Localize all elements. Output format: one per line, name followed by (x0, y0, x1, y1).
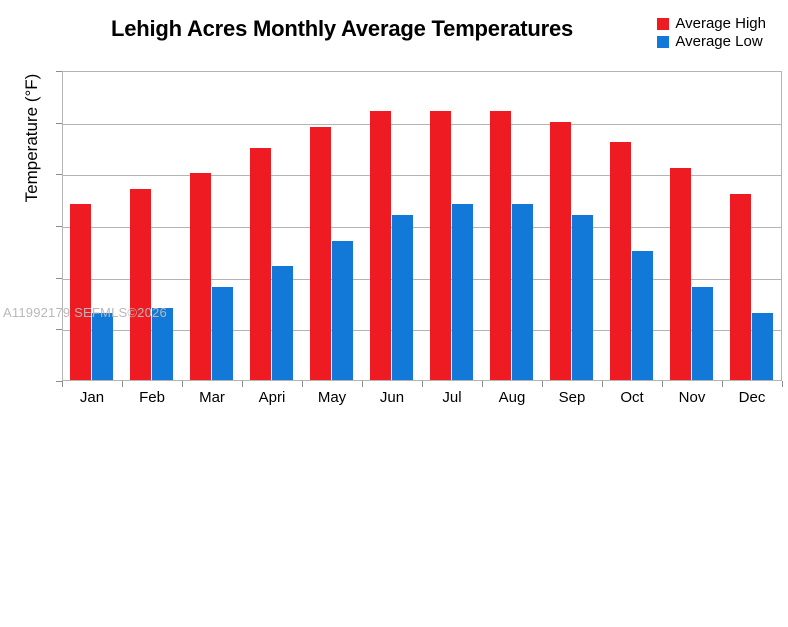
x-axis-tick-label: Nov (679, 389, 706, 406)
x-axis-labels: JanFebMarApriMayJunJulAugSepOctNovDec (62, 389, 782, 411)
y-axis-tick-mark (56, 174, 62, 175)
legend-item-average-high: Average High (657, 16, 766, 31)
legend-label-average-low: Average Low (675, 34, 762, 49)
bar-average-low[interactable] (452, 204, 473, 380)
bar-average-high[interactable] (190, 173, 211, 380)
plot-area (62, 71, 782, 381)
bar-group (183, 72, 243, 380)
bar-average-high[interactable] (610, 142, 631, 380)
x-axis-tick-mark (182, 381, 183, 387)
bar-group (603, 72, 663, 380)
y-axis-tick-mark (56, 71, 62, 72)
bar-group (363, 72, 423, 380)
temperature-bar-chart: Lehigh Acres Monthly Average Temperature… (0, 0, 788, 627)
bar-average-low[interactable] (692, 287, 713, 380)
bars-layer (63, 72, 781, 380)
chart-legend: Average High Average Low (657, 16, 766, 49)
x-axis-tick-label: Jan (80, 389, 104, 406)
x-axis-tick-label: Apri (259, 389, 286, 406)
x-axis-tick-mark (542, 381, 543, 387)
bar-group (303, 72, 363, 380)
x-axis-tick-label: Jul (442, 389, 461, 406)
legend-label-average-high: Average High (675, 16, 766, 31)
bar-group (543, 72, 603, 380)
x-axis-tick-mark (482, 381, 483, 387)
bar-average-low[interactable] (332, 241, 353, 381)
x-axis-tick-label: Oct (620, 389, 643, 406)
bar-average-low[interactable] (212, 287, 233, 380)
bar-average-low[interactable] (392, 215, 413, 380)
x-axis-tick-mark (782, 381, 783, 387)
y-axis-tick-mark (56, 123, 62, 124)
x-axis-tick-mark (662, 381, 663, 387)
bar-average-high[interactable] (550, 122, 571, 380)
x-axis-tick-label: Sep (559, 389, 586, 406)
chart-title: Lehigh Acres Monthly Average Temperature… (62, 16, 622, 42)
x-axis-tick-label: Mar (199, 389, 225, 406)
legend-swatch-average-high (657, 18, 669, 30)
bar-average-high[interactable] (310, 127, 331, 380)
bar-average-high[interactable] (130, 189, 151, 380)
x-axis-tick-mark (602, 381, 603, 387)
y-axis-tick-mark (56, 278, 62, 279)
bar-average-high[interactable] (430, 111, 451, 380)
x-axis-tick-mark (722, 381, 723, 387)
x-axis-tick-label: Feb (139, 389, 165, 406)
x-axis-tick-mark (62, 381, 63, 387)
bar-average-low[interactable] (572, 215, 593, 380)
bar-average-low[interactable] (512, 204, 533, 380)
bar-group (483, 72, 543, 380)
x-axis-tick-mark (422, 381, 423, 387)
x-axis-ticks (62, 381, 782, 389)
bar-group (663, 72, 723, 380)
bar-average-high[interactable] (70, 204, 91, 380)
x-axis-tick-label: May (318, 389, 346, 406)
x-axis-tick-mark (362, 381, 363, 387)
x-axis-tick-label: Jun (380, 389, 404, 406)
x-axis-tick-label: Aug (499, 389, 526, 406)
x-axis-tick-label: Dec (739, 389, 766, 406)
bar-average-high[interactable] (490, 111, 511, 380)
bar-average-high[interactable] (370, 111, 391, 380)
bar-average-low[interactable] (632, 251, 653, 380)
bar-average-low[interactable] (752, 313, 773, 380)
x-axis-tick-mark (242, 381, 243, 387)
bar-group (63, 72, 123, 380)
x-axis-tick-mark (302, 381, 303, 387)
bar-average-high[interactable] (250, 148, 271, 381)
bar-group (423, 72, 483, 380)
bar-average-low[interactable] (92, 313, 113, 380)
bar-average-high[interactable] (670, 168, 691, 380)
bar-average-low[interactable] (272, 266, 293, 380)
bar-average-low[interactable] (152, 308, 173, 380)
bar-group (243, 72, 303, 380)
x-axis-tick-mark (122, 381, 123, 387)
legend-swatch-average-low (657, 36, 669, 48)
legend-item-average-low: Average Low (657, 34, 766, 49)
bar-group (723, 72, 783, 380)
y-axis-title: Temperature (°F) (22, 38, 42, 238)
bar-group (123, 72, 183, 380)
bar-average-high[interactable] (730, 194, 751, 380)
y-axis-tick-mark (56, 226, 62, 227)
y-axis-tick-mark (56, 329, 62, 330)
